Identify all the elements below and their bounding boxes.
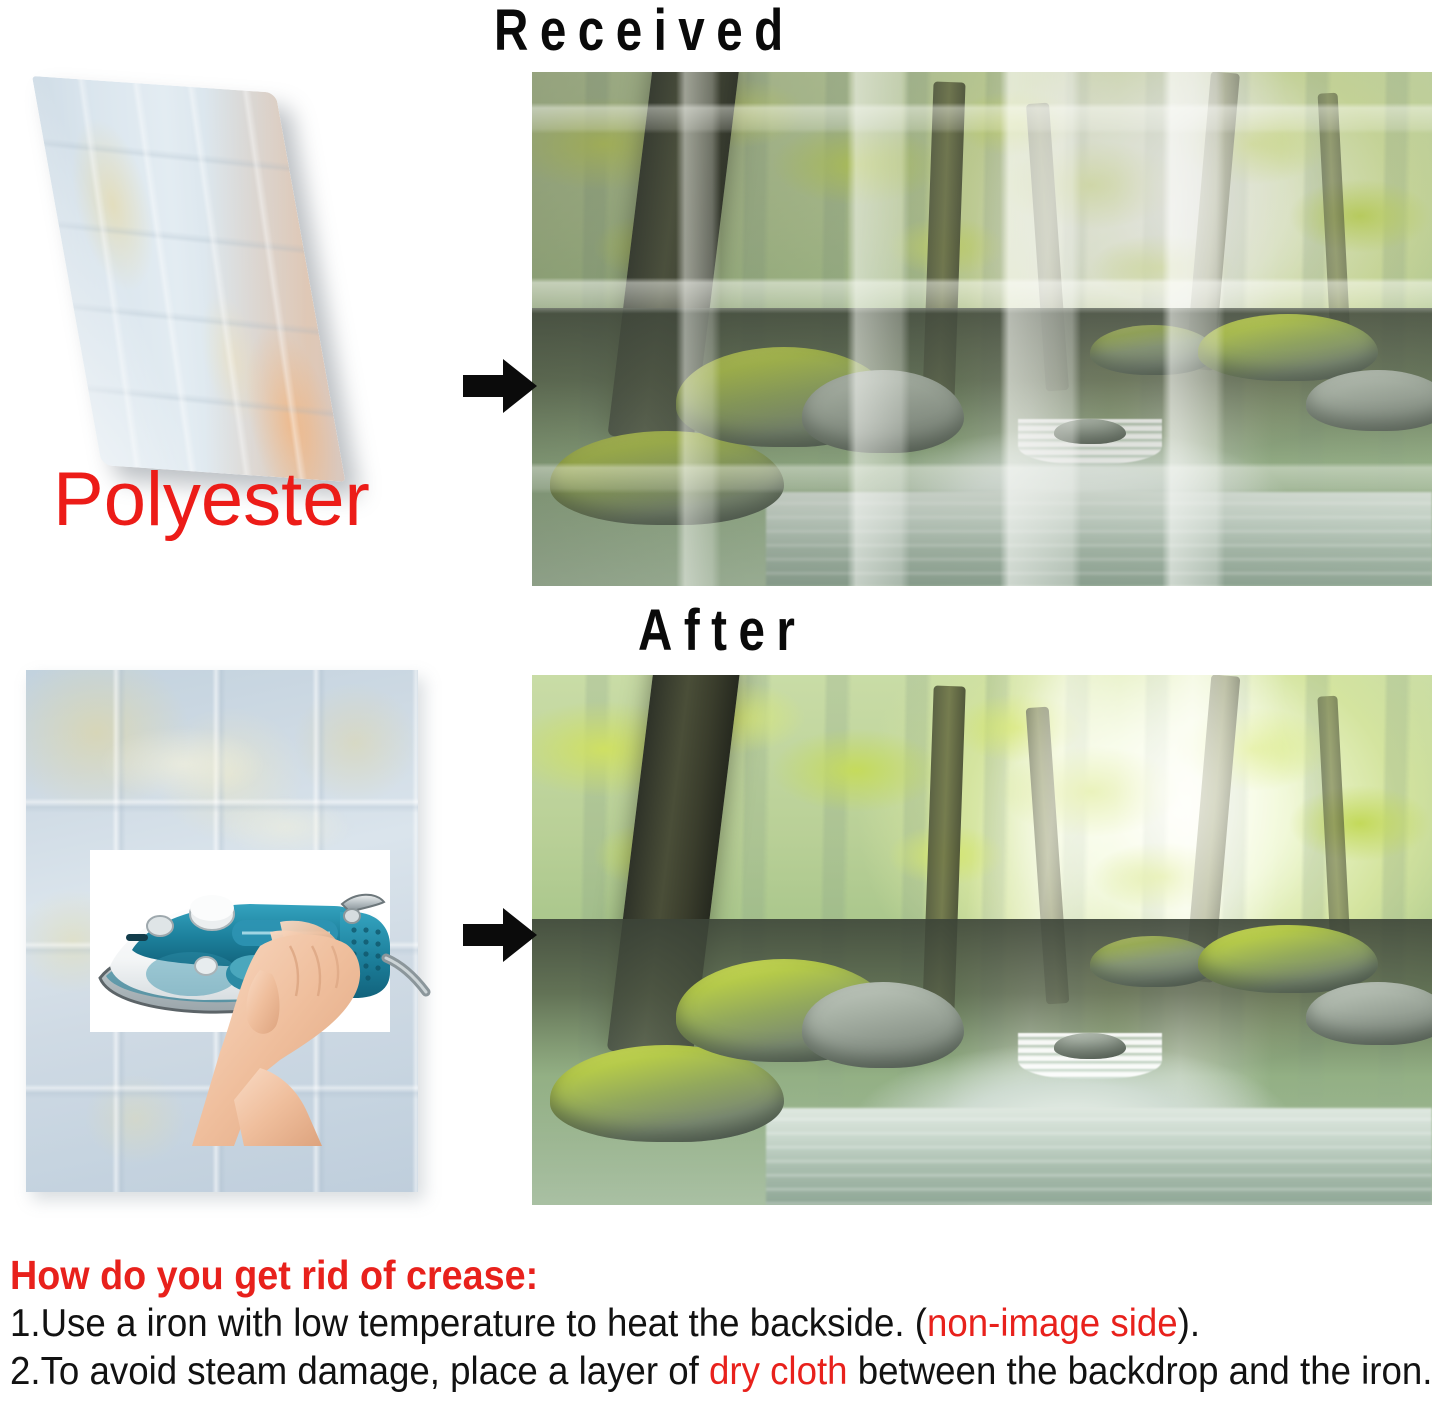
- scene-rock: [1054, 1033, 1126, 1059]
- instruction-line-1-prefix: 1.Use a iron with low temperature to hea…: [10, 1302, 927, 1345]
- scene-water: [766, 1108, 1432, 1205]
- instruction-line-2: 2.To avoid steam damage, place a layer o…: [10, 1350, 1345, 1394]
- received-backdrop-image: [532, 72, 1432, 586]
- instruction-line-1: 1.Use a iron with low temperature to hea…: [10, 1302, 1345, 1346]
- polyester-label: Polyester: [53, 462, 370, 538]
- instructions-block: How do you get rid of crease: 1.Use a ir…: [10, 1252, 1430, 1394]
- instruction-line-2-prefix: 2.To avoid steam damage, place a layer o…: [10, 1350, 709, 1393]
- scene-water: [766, 492, 1432, 586]
- instructions-heading: How do you get rid of crease:: [10, 1252, 1316, 1298]
- folded-fabric-body: [32, 76, 345, 482]
- instruction-line-2-highlight: dry cloth: [709, 1350, 848, 1393]
- scene-ground: [532, 919, 1432, 1205]
- section-title-after: After: [638, 602, 806, 660]
- hand-icon: [84, 846, 404, 1146]
- folded-fabric-image: [8, 66, 440, 486]
- arrow-right-icon: [463, 906, 537, 964]
- after-backdrop-image: [532, 675, 1432, 1205]
- section-title-received: Received: [494, 2, 795, 60]
- instruction-line-2-suffix: between the backdrop and the iron.: [848, 1350, 1433, 1393]
- instruction-line-1-highlight: non-image side: [927, 1302, 1178, 1345]
- scene-rock: [1198, 314, 1378, 381]
- scene-rock: [802, 370, 964, 453]
- scene-rock: [802, 982, 964, 1068]
- arrow-right-icon: [463, 357, 537, 415]
- iron-photo-card: [90, 850, 390, 1032]
- instruction-line-1-suffix: ).: [1178, 1302, 1200, 1345]
- scene-rock: [1198, 925, 1378, 994]
- scene-rock: [1054, 419, 1126, 444]
- scene-ground: [532, 308, 1432, 586]
